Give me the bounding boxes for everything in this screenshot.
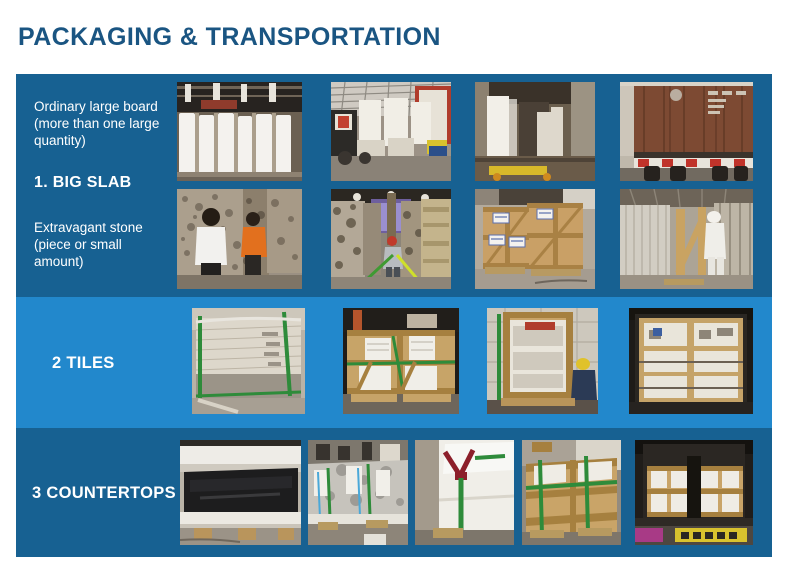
photo-white-wrapped-slabs-warehouse	[177, 82, 302, 181]
heading-countertops: 3 COUNTERTOPS	[32, 484, 176, 503]
photo-white-wrapped-bundle-straps	[415, 440, 514, 545]
photo-tile-crate-in-container	[487, 308, 598, 414]
page-title: PACKAGING & TRANSPORTATION	[18, 23, 441, 52]
packaging-panel: Ordinary large board (more than one larg…	[16, 74, 772, 557]
heading-big-slab: 1. BIG SLAB	[34, 174, 132, 192]
photo-worker-bracing-container	[620, 189, 753, 289]
photo-container-full-of-tile-crates	[629, 308, 753, 414]
heading-tiles: 2 TILES	[52, 354, 115, 373]
photo-slabs-inside-container	[475, 82, 595, 181]
description-extravagant-stone: Extravagant stone (piece or small amount…	[34, 219, 174, 270]
photo-wooden-crates-green-straps	[522, 440, 621, 545]
photo-workers-inspecting-granite-slab	[177, 189, 302, 289]
photo-tile-crates-on-pallets	[343, 308, 459, 414]
photo-crates-loaded-in-container	[635, 440, 753, 545]
slide-canvas: PACKAGING & TRANSPORTATION Ordinary larg…	[0, 0, 790, 584]
photo-slabs-loading-open-truck	[331, 82, 451, 181]
photo-black-countertop-slab	[180, 440, 301, 545]
photo-worker-walking-slab-aisle	[331, 189, 451, 289]
label-column: Ordinary large board (more than one larg…	[16, 74, 177, 557]
photo-brown-container-on-truck	[620, 82, 753, 181]
description-ordinary-large-board: Ordinary large board (more than one larg…	[34, 98, 174, 149]
photo-strapped-tile-bundle	[192, 308, 305, 414]
photo-wooden-crates-with-labels	[475, 189, 595, 289]
photo-grey-countertop-bundles	[308, 440, 408, 545]
